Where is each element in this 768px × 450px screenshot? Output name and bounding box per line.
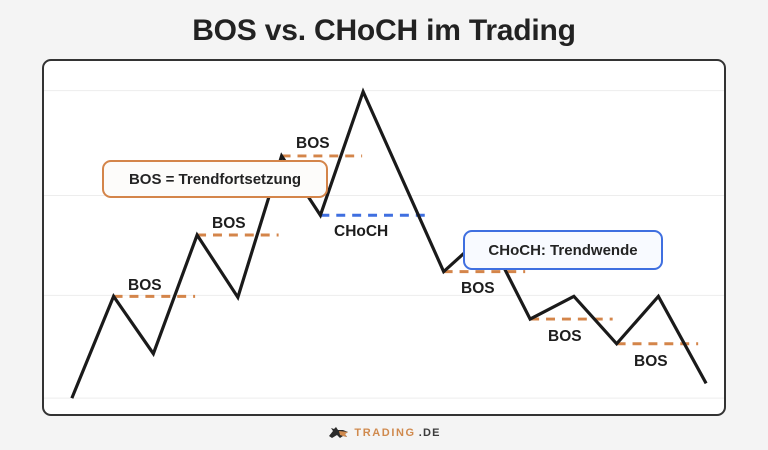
chart-panel: BOSBOSBOSCHoCHBOSBOSBOS BOS = Trendforts… (42, 59, 726, 416)
footer-brand-tld: .DE (419, 427, 441, 439)
page-title: BOS vs. CHoCH im Trading (0, 14, 768, 48)
break-label-bos-1: BOS (128, 277, 162, 295)
legend-choch-callout: CHoCH: Trendwende (463, 230, 663, 270)
legend-bos-callout: BOS = Trendfortsetzung (102, 160, 328, 198)
break-label-bos-3: BOS (296, 135, 330, 153)
break-label-choch-1: CHoCH (334, 223, 388, 241)
legend-choch-label: CHoCH: Trendwende (488, 242, 637, 259)
footer-brand-name: TRADING (354, 427, 415, 439)
break-label-bos-6: BOS (634, 353, 668, 371)
bull-icon (327, 425, 351, 441)
footer-branding: TRADING .DE (0, 425, 768, 441)
break-label-bos-2: BOS (212, 215, 246, 233)
infographic-root: BOS vs. CHoCH im Trading BOSBOSBOSCHoCHB… (0, 0, 768, 450)
break-label-bos-5: BOS (548, 328, 582, 346)
legend-bos-label: BOS = Trendfortsetzung (129, 171, 301, 188)
break-label-bos-4: BOS (461, 280, 495, 298)
